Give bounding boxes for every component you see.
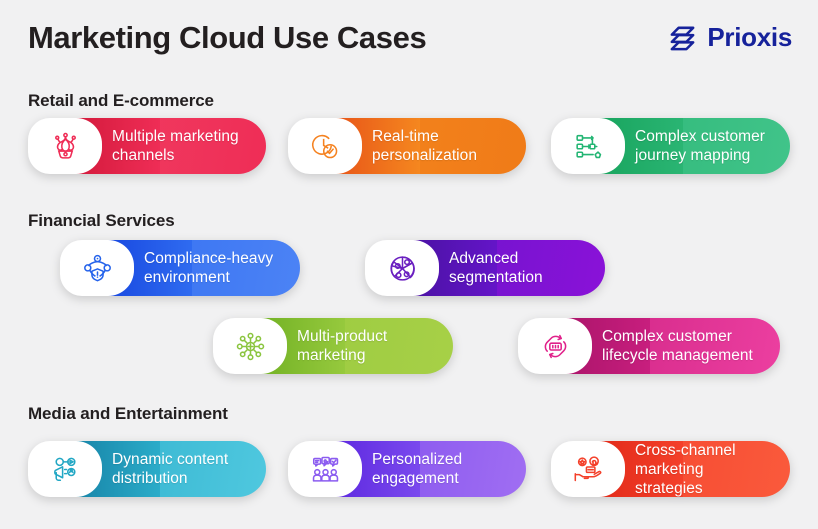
card-label-line2: marketing strategies	[635, 460, 774, 498]
infographic-page: Marketing Cloud Use Cases Prioxis Retail…	[0, 0, 818, 529]
card-label-line1: Real-time	[372, 127, 477, 146]
card-icon-panel	[365, 240, 439, 296]
card-label: Multiple marketingchannels	[112, 127, 255, 165]
card-label-line2: channels	[112, 146, 239, 165]
clock-check-icon	[309, 130, 342, 163]
brand-logo-text: Prioxis	[707, 22, 792, 53]
use-case-card[interactable]: Personalizedengagement	[288, 441, 526, 497]
use-case-card[interactable]: Dynamic contentdistribution	[28, 441, 266, 497]
lifecycle-hands-icon	[539, 330, 572, 363]
crown-flower-icon	[49, 130, 82, 163]
card-label-line1: Complex customer	[602, 327, 753, 346]
use-case-card[interactable]: Complex customerlifecycle management	[518, 318, 780, 374]
card-label: Advancedsegmentation	[449, 249, 559, 287]
page-title: Marketing Cloud Use Cases	[28, 20, 426, 56]
card-label-line1: Advanced	[449, 249, 543, 268]
use-case-card[interactable]: Advancedsegmentation	[365, 240, 605, 296]
card-icon-panel	[60, 240, 134, 296]
card-label-line1: Complex customer	[635, 127, 765, 146]
card-label-line1: Multi-product	[297, 327, 387, 346]
journey-flow-icon	[572, 130, 605, 163]
use-case-card[interactable]: Multi-productmarketing	[213, 318, 453, 374]
card-label: Compliance-heavyenvironment	[144, 249, 289, 287]
use-case-card[interactable]: Complex customerjourney mapping	[551, 118, 790, 174]
card-label-line2: lifecycle management	[602, 346, 753, 365]
card-label-line1: Multiple marketing	[112, 127, 239, 146]
card-icon-panel	[551, 118, 625, 174]
use-case-card[interactable]: Multiple marketingchannels	[28, 118, 266, 174]
card-label-line2: engagement	[372, 469, 462, 488]
card-icon-panel	[551, 441, 625, 497]
card-label: Cross-channelmarketing strategies	[635, 441, 790, 498]
card-label-line2: journey mapping	[635, 146, 765, 165]
card-label: Personalizedengagement	[372, 450, 478, 488]
card-label: Complex customerjourney mapping	[635, 127, 781, 165]
section-label-financial: Financial Services	[28, 211, 175, 231]
card-label: Dynamic contentdistribution	[112, 450, 244, 488]
brand-logo: Prioxis	[667, 22, 792, 53]
hand-rating-icon	[572, 453, 605, 486]
prioxis-mark-icon	[667, 22, 698, 53]
card-label-line1: Cross-channel	[635, 441, 774, 460]
card-label-line2: marketing	[297, 346, 387, 365]
card-icon-panel	[28, 118, 102, 174]
compliance-shield-network-icon	[81, 252, 114, 285]
card-label-line1: Compliance-heavy	[144, 249, 273, 268]
content-broadcast-icon	[49, 453, 82, 486]
card-label-line2: segmentation	[449, 268, 543, 287]
card-icon-panel	[28, 441, 102, 497]
card-icon-panel	[288, 441, 362, 497]
card-label-line2: personalization	[372, 146, 477, 165]
card-label-line1: Personalized	[372, 450, 462, 469]
card-label: Real-timepersonalization	[372, 127, 493, 165]
card-label-line2: environment	[144, 268, 273, 287]
use-case-card[interactable]: Compliance-heavyenvironment	[60, 240, 300, 296]
card-label-line2: distribution	[112, 469, 228, 488]
use-case-card[interactable]: Cross-channelmarketing strategies	[551, 441, 790, 497]
use-case-card[interactable]: Real-timepersonalization	[288, 118, 526, 174]
audience-feedback-icon	[309, 453, 342, 486]
card-icon-panel	[288, 118, 362, 174]
pie-segments-icon	[386, 252, 419, 285]
card-label: Multi-productmarketing	[297, 327, 403, 365]
card-icon-panel	[518, 318, 592, 374]
network-hub-icon	[234, 330, 267, 363]
card-label: Complex customerlifecycle management	[602, 327, 769, 365]
card-icon-panel	[213, 318, 287, 374]
card-label-line1: Dynamic content	[112, 450, 228, 469]
section-label-retail: Retail and E-commerce	[28, 91, 214, 111]
section-label-media: Media and Entertainment	[28, 404, 228, 424]
